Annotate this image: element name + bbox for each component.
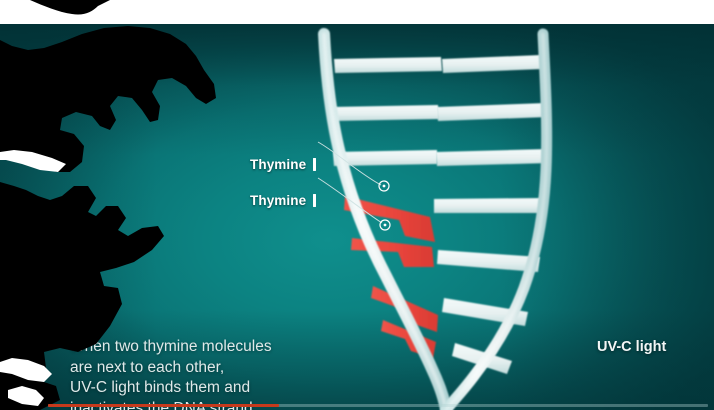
- caption-block: When two thymine molecules are next to e…: [70, 337, 272, 410]
- label-uvc-light: UV-C light: [597, 339, 666, 355]
- label-thymine-upper: Thymine: [250, 157, 316, 172]
- video-frame: Thymine Thymine UV-C light When two thym…: [0, 24, 714, 410]
- caption-line-1: When two thymine molecules: [70, 337, 272, 358]
- label-thymine-lower: Thymine: [250, 193, 316, 208]
- caption-line-3: UV-C light binds them and: [70, 378, 272, 399]
- thymine-marker-lower: [380, 220, 390, 230]
- dna-rungs-left: [331, 57, 442, 166]
- video-progress-fill[interactable]: [48, 404, 279, 407]
- label-marker-bar-icon: [313, 158, 316, 171]
- dna-backbones: [324, 34, 547, 410]
- video-screenshot: Thymine Thymine UV-C light When two thym…: [0, 0, 714, 410]
- dna-rungs-right: [434, 55, 550, 374]
- label-thymine-lower-text: Thymine: [250, 193, 306, 208]
- label-marker-bar-icon: [313, 194, 316, 207]
- thymine-marker-upper: [379, 181, 389, 191]
- label-thymine-upper-text: Thymine: [250, 157, 306, 172]
- video-progress-track[interactable]: [48, 404, 708, 407]
- top-white-band: [0, 0, 714, 24]
- caption-line-2: are next to each other,: [70, 358, 272, 379]
